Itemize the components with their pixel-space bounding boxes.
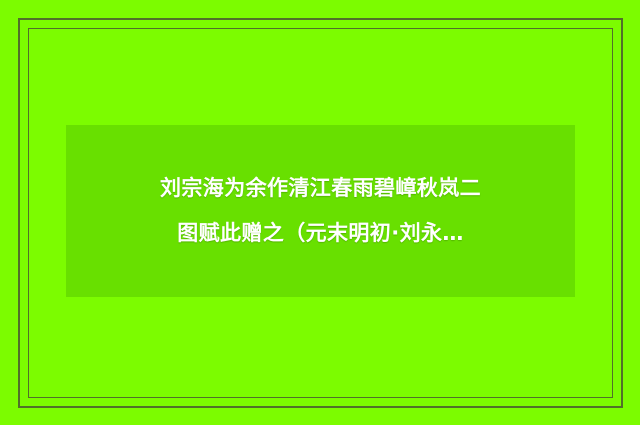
caption-line-2: 图赋此赠之（元末明初·刘永… — [177, 211, 464, 256]
caption-panel: 刘宗海为余作清江春雨碧嶂秋岚二 图赋此赠之（元末明初·刘永… — [66, 125, 575, 297]
caption-line-1: 刘宗海为余作清江春雨碧嶂秋岚二 — [160, 166, 481, 211]
image-card: 刘宗海为余作清江春雨碧嶂秋岚二 图赋此赠之（元末明初·刘永… — [0, 0, 640, 425]
